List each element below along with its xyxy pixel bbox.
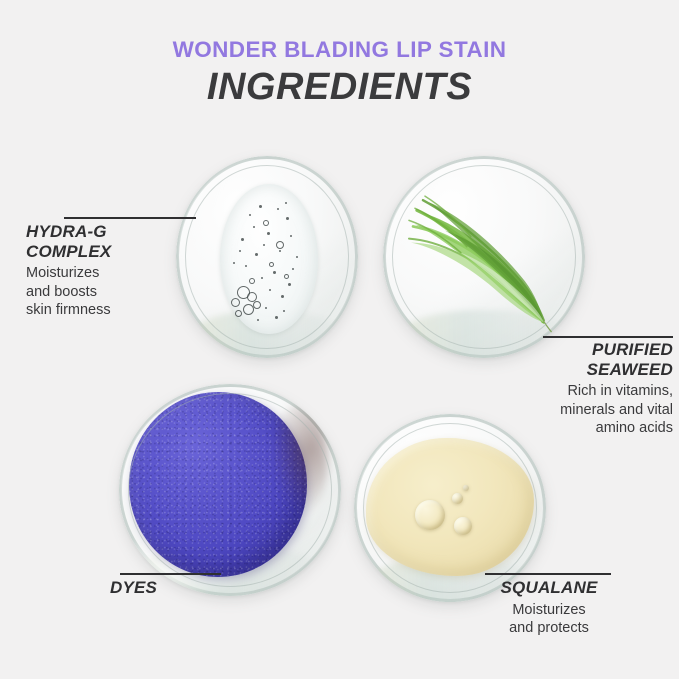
callout-line-seaweed: [543, 336, 673, 338]
ingredient-name: PURIFIED SEAWEED: [497, 340, 673, 379]
ingredients-infographic: WONDER BLADING LIP STAIN INGREDIENTS: [0, 0, 679, 679]
petri-dish-seaweed: [383, 156, 585, 358]
oil-pool: [366, 438, 535, 575]
gel-blob: [220, 184, 318, 333]
seaweed-illustration: [399, 180, 569, 342]
ingredient-label-hydra-g: HYDRA-G COMPLEX Moisturizes and boosts s…: [26, 222, 186, 320]
ingredient-description: Moisturizes and protects: [473, 601, 625, 638]
brand-title: WONDER BLADING LIP STAIN: [0, 38, 679, 63]
callout-line-squalane: [485, 573, 611, 575]
ingredient-label-dyes: DYES: [110, 578, 230, 598]
header: WONDER BLADING LIP STAIN INGREDIENTS: [0, 38, 679, 109]
callout-line-hydra-g: [64, 217, 196, 219]
oil-droplet-small: [452, 493, 463, 504]
ingredient-label-squalane: SQUALANE Moisturizes and protects: [473, 578, 625, 638]
page-title: INGREDIENTS: [0, 67, 679, 109]
ingredient-name: SQUALANE: [473, 578, 625, 598]
dye-edge-shadow: [270, 405, 328, 515]
petri-dish-hydra-g: [176, 156, 358, 358]
ingredient-name: DYES: [110, 578, 230, 598]
ingredient-label-seaweed: PURIFIED SEAWEED Rich in vitamins, miner…: [497, 340, 673, 438]
ingredient-description: Moisturizes and boosts skin firmness: [26, 264, 186, 319]
callout-line-dyes: [120, 573, 221, 575]
ingredient-description: Rich in vitamins, minerals and vital ami…: [497, 382, 673, 437]
petri-dish-dyes: [119, 384, 341, 596]
ingredient-name: HYDRA-G COMPLEX: [26, 222, 186, 261]
